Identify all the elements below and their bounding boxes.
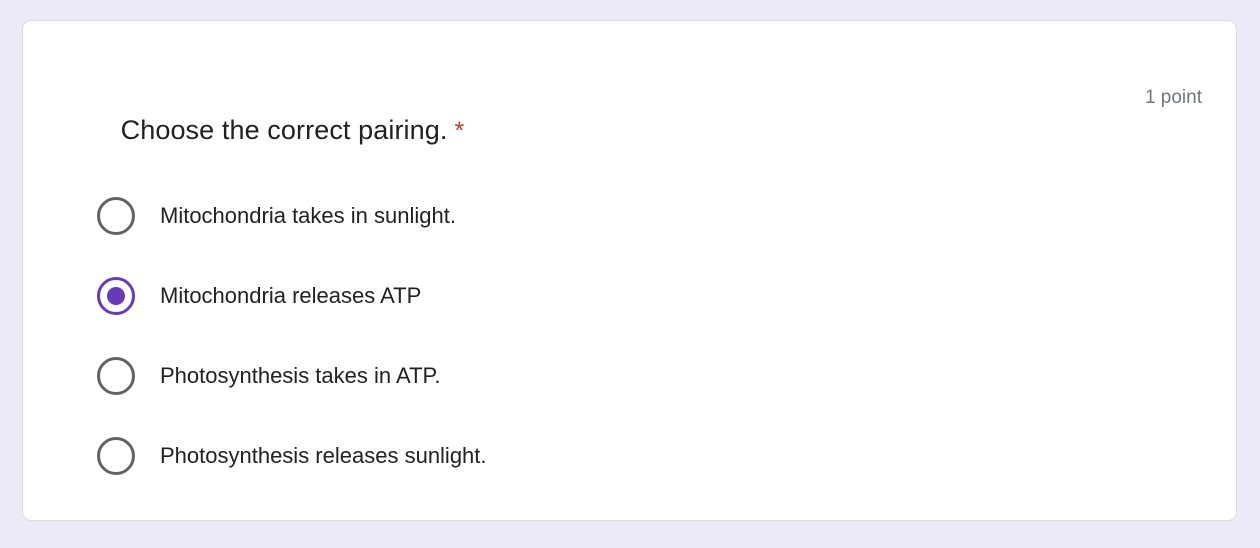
option-label-3[interactable]: Photosynthesis releases sunlight.: [160, 441, 487, 471]
option-row-1[interactable]: Mitochondria releases ATP: [75, 256, 1196, 336]
option-row-2[interactable]: Photosynthesis takes in ATP.: [75, 336, 1196, 416]
option-label-1[interactable]: Mitochondria releases ATP: [160, 281, 421, 311]
radio-inner-dot-1: [107, 287, 125, 305]
radio-button-icon-0[interactable]: [97, 197, 135, 235]
question-title: Choose the correct pairing.*: [75, 76, 464, 184]
option-row-0[interactable]: Mitochondria takes in sunlight.: [75, 176, 1196, 256]
option-row-3[interactable]: Photosynthesis releases sunlight.: [75, 416, 1196, 496]
question-card: Choose the correct pairing.* 1 point Mit…: [22, 20, 1237, 521]
required-asterisk: *: [454, 117, 464, 145]
options-list: Mitochondria takes in sunlight. Mitochon…: [75, 176, 1196, 496]
radio-button-icon-1[interactable]: [97, 277, 135, 315]
points-label: 1 point: [1145, 76, 1202, 116]
radio-button-icon-3[interactable]: [97, 437, 135, 475]
question-title-text: Choose the correct pairing.: [121, 115, 448, 145]
option-label-2[interactable]: Photosynthesis takes in ATP.: [160, 361, 440, 391]
question-header: Choose the correct pairing.* 1 point: [75, 76, 1202, 184]
option-label-0[interactable]: Mitochondria takes in sunlight.: [160, 201, 456, 231]
radio-button-icon-2[interactable]: [97, 357, 135, 395]
